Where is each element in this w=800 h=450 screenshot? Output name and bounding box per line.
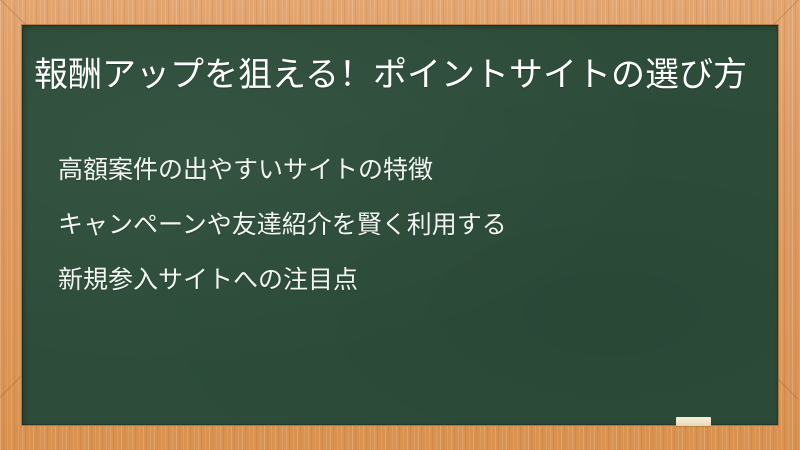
chalkboard-surface: 報酬アップを狙える！ポイントサイトの選び方 高額案件の出やすいサイトの特徴 キャ…: [22, 25, 778, 425]
list-item: キャンペーンや友達紹介を賢く利用する: [58, 210, 758, 240]
slide-title: 報酬アップを狙える！ポイントサイトの選び方: [34, 50, 750, 100]
list-item: 新規参入サイトへの注目点: [58, 265, 758, 295]
blackboard-slide: 報酬アップを狙える！ポイントサイトの選び方 高額案件の出やすいサイトの特徴 キャ…: [0, 0, 800, 450]
list-item: 高額案件の出やすいサイトの特徴: [58, 155, 758, 185]
slide-topic-list: 高額案件の出やすいサイトの特徴 キャンペーンや友達紹介を賢く利用する 新規参入サ…: [58, 155, 758, 320]
chalk-stick-icon: [676, 417, 711, 426]
